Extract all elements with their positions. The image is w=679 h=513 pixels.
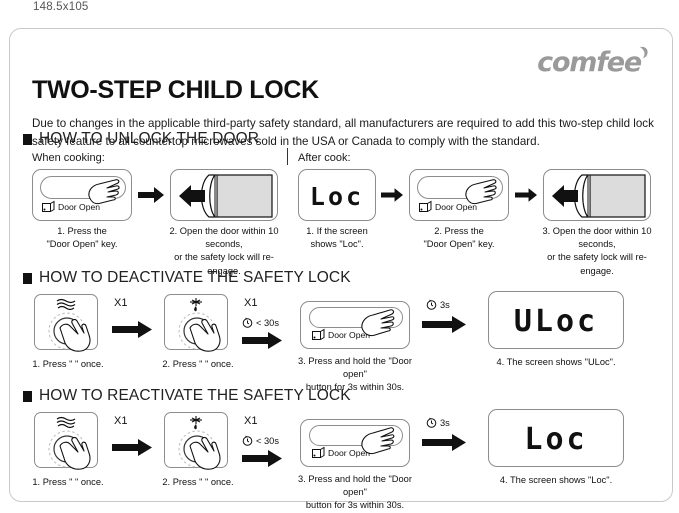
clock-icon	[242, 317, 253, 328]
group-label-when-cooking: When cooking:	[32, 152, 105, 164]
step-panel-knob	[34, 412, 98, 468]
timer-label: < 30s	[256, 436, 279, 446]
step-caption: 4. The screen shows "ULoc".	[488, 356, 624, 369]
arrow-right-icon	[112, 321, 152, 338]
group-label-after-cook: After cook:	[298, 152, 351, 164]
dimension-label: 148.5x105	[33, 1, 89, 13]
instruction-card: comfee TWO-STEP CHILD LOCK Due to change…	[9, 28, 673, 502]
section-heading-label: HOW TO REACTIVATE THE SAFETY LOCK	[39, 387, 351, 405]
display-readout: Loc	[489, 422, 623, 457]
step-panel-door-key-hold: Door Open	[300, 301, 410, 349]
page-title: TWO-STEP CHILD LOCK	[32, 76, 319, 105]
step-panel-open-door	[170, 169, 278, 221]
timer-badge: < 30s	[242, 435, 279, 446]
press-count-badge: X1	[244, 297, 257, 309]
door-open-glyph-icon	[419, 201, 432, 214]
door-open-glyph-icon	[42, 201, 55, 214]
step-caption: 2. Press the "Door Open" key.	[409, 225, 509, 251]
brand-name: comfee	[537, 47, 641, 78]
section-heading-unlock-door: HOW TO UNLOCK THE DOOR	[23, 130, 259, 148]
step-panel-knob	[164, 412, 228, 468]
step-caption: 1. Press " " once.	[20, 358, 116, 371]
arrow-right-icon	[112, 439, 152, 456]
step-caption: 1. Press the "Door Open" key.	[32, 225, 132, 251]
step-panel-display: ULoc	[488, 291, 624, 349]
step-caption: 2. Press " " once.	[150, 358, 246, 371]
step-caption: 3. Press and hold the "Door open" button…	[293, 473, 417, 513]
section-bullet-icon	[23, 391, 32, 402]
clock-icon	[426, 299, 437, 310]
step-panel-display: Loc	[488, 409, 624, 467]
step-caption: 1. If the screen shows "Loc".	[298, 225, 376, 251]
arrow-right-icon	[242, 450, 282, 467]
step-panel-display: Loc	[298, 169, 376, 221]
arrow-right-icon	[138, 187, 164, 203]
step-caption: 3. Open the door within 10 seconds, or t…	[533, 225, 661, 278]
door-open-glyph-icon	[312, 329, 325, 342]
arrow-right-icon	[515, 187, 537, 203]
arrow-right-icon	[422, 316, 466, 333]
press-count-badge: X1	[114, 415, 127, 427]
section-heading-label: HOW TO UNLOCK THE DOOR	[39, 130, 259, 148]
press-count-badge: X1	[244, 415, 257, 427]
hand-press-icon	[58, 437, 94, 471]
logo-swoosh-icon	[639, 45, 650, 63]
display-readout: Loc	[299, 182, 375, 211]
step-caption: 2. Press " " once.	[150, 476, 246, 489]
microwave-wave-icon	[55, 298, 77, 312]
step-panel-door-key-hold: Door Open	[300, 419, 410, 467]
timer-badge: < 30s	[242, 317, 279, 328]
timer-badge: 3s	[426, 417, 450, 428]
hand-press-icon	[358, 424, 402, 460]
microwave-door-illustration	[548, 173, 648, 219]
hand-press-icon	[188, 437, 224, 471]
hand-press-icon	[58, 319, 94, 353]
step-panel-door-key: Door Open	[32, 169, 132, 221]
step-panel-knob	[34, 294, 98, 350]
step-caption: 4. The screen shows "Loc".	[488, 474, 624, 487]
defrost-icon	[187, 415, 205, 431]
timer-label: 3s	[440, 418, 450, 428]
section-bullet-icon	[23, 273, 32, 284]
section-heading-deactivate-lock: HOW TO DEACTIVATE THE SAFETY LOCK	[23, 269, 351, 287]
timer-label: 3s	[440, 300, 450, 310]
section-heading-reactivate-lock: HOW TO REACTIVATE THE SAFETY LOCK	[23, 387, 351, 405]
display-readout: ULoc	[489, 304, 623, 339]
arrow-right-icon	[242, 332, 282, 349]
hand-press-icon	[188, 319, 224, 353]
step-panel-door-key: Door Open	[409, 169, 509, 221]
arrow-right-icon	[381, 187, 403, 203]
microwave-door-illustration	[175, 173, 275, 219]
hand-press-icon	[462, 176, 502, 208]
clock-icon	[242, 435, 253, 446]
step-panel-knob	[164, 294, 228, 350]
section-heading-label: HOW TO DEACTIVATE THE SAFETY LOCK	[39, 269, 351, 287]
comfee-logo: comfee	[537, 47, 650, 78]
group-divider	[287, 148, 288, 165]
hand-press-icon	[85, 176, 125, 208]
timer-label: < 30s	[256, 318, 279, 328]
clock-icon	[426, 417, 437, 428]
arrow-right-icon	[422, 434, 466, 451]
step-caption: 1. Press " " once.	[20, 476, 116, 489]
hand-press-icon	[358, 306, 402, 342]
section-bullet-icon	[23, 134, 32, 145]
door-open-glyph-icon	[312, 447, 325, 460]
press-count-badge: X1	[114, 297, 127, 309]
defrost-icon	[187, 297, 205, 313]
step-panel-open-door	[543, 169, 651, 221]
microwave-wave-icon	[55, 416, 77, 430]
timer-badge: 3s	[426, 299, 450, 310]
